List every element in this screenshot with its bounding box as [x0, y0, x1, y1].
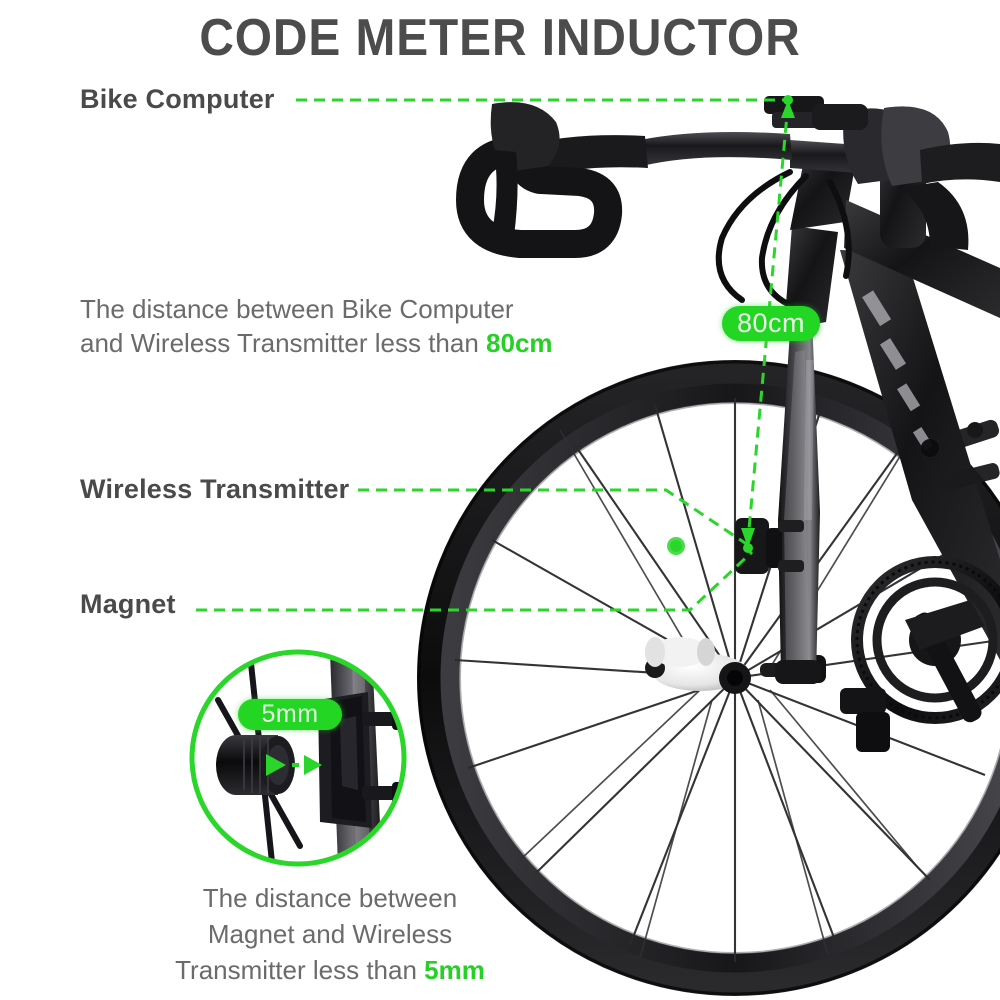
callout-magnet: Magnet — [80, 589, 176, 620]
description-bottom-line3-prefix: Transmitter less than — [175, 955, 424, 985]
description-bottom-line3: Transmitter less than 5mm — [150, 952, 510, 988]
page-title: CODE METER INDUCTOR — [40, 8, 960, 68]
description-bottom-value: 5mm — [424, 955, 485, 985]
callout-wireless-transmitter: Wireless Transmitter — [80, 474, 349, 505]
description-bottom-line2: Magnet and Wireless — [150, 916, 510, 952]
description-top-line2: and Wireless Transmitter less than 80cm — [80, 326, 553, 360]
description-top-line1: The distance between Bike Computer — [80, 292, 553, 326]
description-top: The distance between Bike Computer and W… — [80, 292, 553, 360]
badge-5mm: 5mm — [238, 699, 342, 730]
callout-bike-computer: Bike Computer — [80, 84, 275, 115]
poster-canvas: CODE METER INDUCTOR Bike Computer Wirele… — [0, 0, 1000, 1000]
description-top-value: 80cm — [486, 328, 553, 358]
description-bottom-line1: The distance between — [150, 880, 510, 916]
description-bottom: The distance between Magnet and Wireless… — [150, 880, 510, 988]
description-top-line2-prefix: and Wireless Transmitter less than — [80, 328, 486, 358]
badge-80cm: 80cm — [722, 306, 820, 341]
